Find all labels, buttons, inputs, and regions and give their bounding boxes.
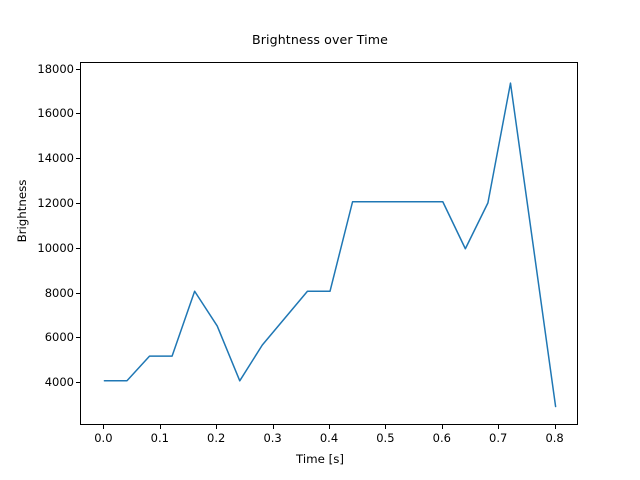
y-tick-label: 12000 bbox=[37, 196, 74, 210]
y-tick-label: 4000 bbox=[45, 375, 74, 389]
x-tick-label: 0.2 bbox=[207, 431, 225, 445]
x-tick-label: 0.0 bbox=[94, 431, 112, 445]
x-tick-label: 0.4 bbox=[320, 431, 338, 445]
x-tick-label: 0.5 bbox=[376, 431, 394, 445]
plot-area bbox=[80, 62, 578, 425]
y-tick-label: 14000 bbox=[37, 151, 74, 165]
data-line-svg bbox=[81, 63, 579, 426]
brightness-data-line bbox=[104, 83, 555, 406]
y-tick-label: 8000 bbox=[45, 286, 74, 300]
x-tick-label: 0.7 bbox=[489, 431, 507, 445]
x-tick-label: 0.1 bbox=[151, 431, 169, 445]
x-tick-label: 0.3 bbox=[263, 431, 281, 445]
y-tick-label: 16000 bbox=[37, 106, 74, 120]
x-tick-label: 0.8 bbox=[545, 431, 563, 445]
x-tick-label: 0.6 bbox=[433, 431, 451, 445]
chart-figure: Brightness over Time 4000600080001000012… bbox=[0, 0, 640, 480]
y-tick-label: 18000 bbox=[37, 62, 74, 76]
y-axis-tick-labels: 4000600080001000012000140001600018000 bbox=[0, 0, 74, 480]
y-tick-label: 6000 bbox=[45, 330, 74, 344]
chart-title: Brightness over Time bbox=[0, 32, 640, 47]
y-tick-label: 10000 bbox=[37, 241, 74, 255]
y-axis-label: Brightness bbox=[15, 151, 29, 271]
x-axis-label: Time [s] bbox=[0, 452, 640, 466]
